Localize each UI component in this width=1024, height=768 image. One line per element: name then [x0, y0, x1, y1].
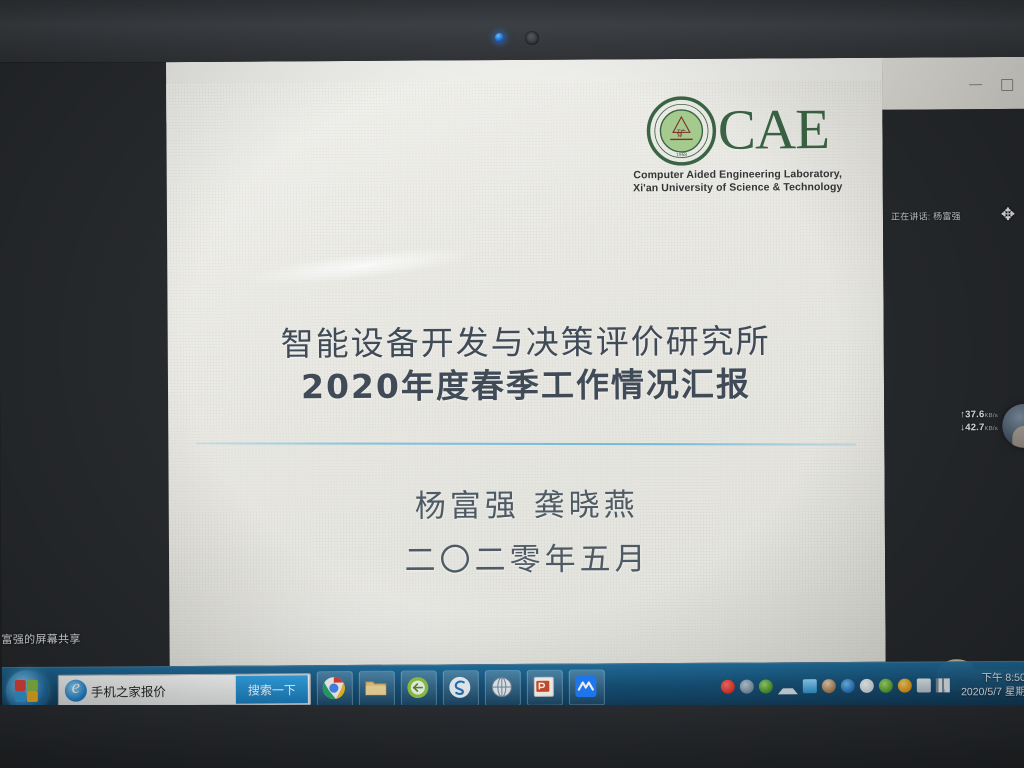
webcam-icon [525, 31, 539, 45]
cae-logo: 矿 1958 CAE Computer Aided Engineering La… [602, 95, 873, 196]
show-hidden-icons-chevron[interactable] [778, 678, 798, 694]
logo-sub-line-2: Xi'an University of Science & Technology [603, 181, 873, 196]
upload-speed-value: ↑37.6 [960, 409, 984, 420]
security-shield-icon[interactable] [879, 679, 893, 693]
search-input[interactable]: 手机之家报价 [91, 680, 236, 700]
slide-title-line-2: 2020年度春季工作情况汇报 [168, 362, 884, 410]
screen-glare [247, 240, 478, 291]
monitor-bottom-bezel [0, 705, 1024, 768]
chrome-icon [322, 676, 346, 700]
shared-powerpoint-slide: 矿 1958 CAE Computer Aided Engineering La… [166, 80, 886, 666]
window-controls [882, 57, 1024, 110]
volume-icon[interactable] [860, 679, 874, 693]
tencent-shield-icon[interactable] [841, 679, 855, 693]
search-button[interactable]: 搜索一下 [236, 675, 308, 703]
meeting-icon [574, 674, 598, 698]
taskbar-item-sogou-browser[interactable] [443, 670, 479, 706]
internet-explorer-icon [65, 680, 87, 702]
maximize-button[interactable] [999, 75, 1014, 90]
sogou-input-icon[interactable] [721, 680, 735, 694]
gear-globe-icon [490, 675, 514, 699]
download-speed-unit: KB/s [984, 426, 998, 432]
taskbar-item-explorer[interactable] [359, 671, 395, 707]
refresh-icon[interactable] [740, 680, 754, 694]
360-browser-icon [406, 676, 430, 700]
slide-divider [196, 442, 856, 445]
monitor-top-bezel [0, 0, 1024, 62]
slide-presenters: 杨富强 龚晓燕 [169, 478, 885, 527]
taskbar-clock[interactable]: 下午 8:50 2020/5/7 星期 [961, 671, 1024, 699]
powerpoint-icon [532, 675, 556, 699]
taskbar-item-system-tool[interactable] [485, 670, 521, 706]
ie-search-toolbar[interactable]: 手机之家报价 搜索一下 [58, 673, 311, 707]
sogou-icon [448, 675, 472, 699]
user-icon[interactable] [822, 679, 836, 693]
screen-share-banner: 富强的屏幕共享 [1, 625, 121, 652]
clock-time: 下午 8:50 [961, 671, 1024, 685]
plant-icon[interactable] [759, 679, 773, 693]
folder-icon [364, 676, 388, 700]
keyboard-icon[interactable] [917, 678, 931, 692]
meeting-side-panel: 正在讲话: 杨富强 ✥ ↑37.6KB/s ↓42.7KB/s [882, 109, 1024, 662]
update-icon[interactable] [898, 679, 912, 693]
university-seal-icon: 矿 1958 [646, 96, 716, 166]
system-tray: 下午 8:50 2020/5/7 星期 [721, 662, 1024, 710]
photo-of-monitor: 腾讯会议 会议号：533 730 501 矿 1958 [0, 0, 1024, 768]
download-speed-value: ↓42.7 [960, 422, 984, 433]
letterbox-left [0, 62, 170, 667]
minimize-button[interactable] [968, 76, 983, 91]
cae-acronym: CAE [718, 103, 829, 158]
slide-title-line-1: 智能设备开发与决策评价研究所 [168, 320, 884, 366]
taskbar-item-powerpoint[interactable] [527, 670, 563, 706]
taskbar-item-chrome[interactable] [317, 671, 353, 707]
clock-date: 2020/5/7 星期 [961, 685, 1024, 699]
taskbar-item-tencent-meeting[interactable] [569, 669, 605, 705]
usb-icon[interactable] [803, 679, 817, 693]
network-signal-icon[interactable] [936, 678, 950, 692]
taskbar-item-360-browser[interactable] [401, 670, 437, 706]
slide-title-block: 智能设备开发与决策评价研究所 2020年度春季工作情况汇报 [168, 320, 885, 410]
monitor-screen: 腾讯会议 会议号：533 730 501 矿 1958 [0, 57, 1024, 713]
slide-date: 二〇二零年五月 [169, 532, 885, 581]
power-led-icon [495, 33, 504, 42]
upload-speed-unit: KB/s [984, 413, 998, 419]
svg-text:1958: 1958 [676, 152, 687, 158]
speaking-now-label: 正在讲话: 杨富强 [891, 209, 991, 223]
move-cursor-icon[interactable]: ✥ [998, 205, 1018, 225]
svg-text:矿: 矿 [676, 128, 685, 140]
